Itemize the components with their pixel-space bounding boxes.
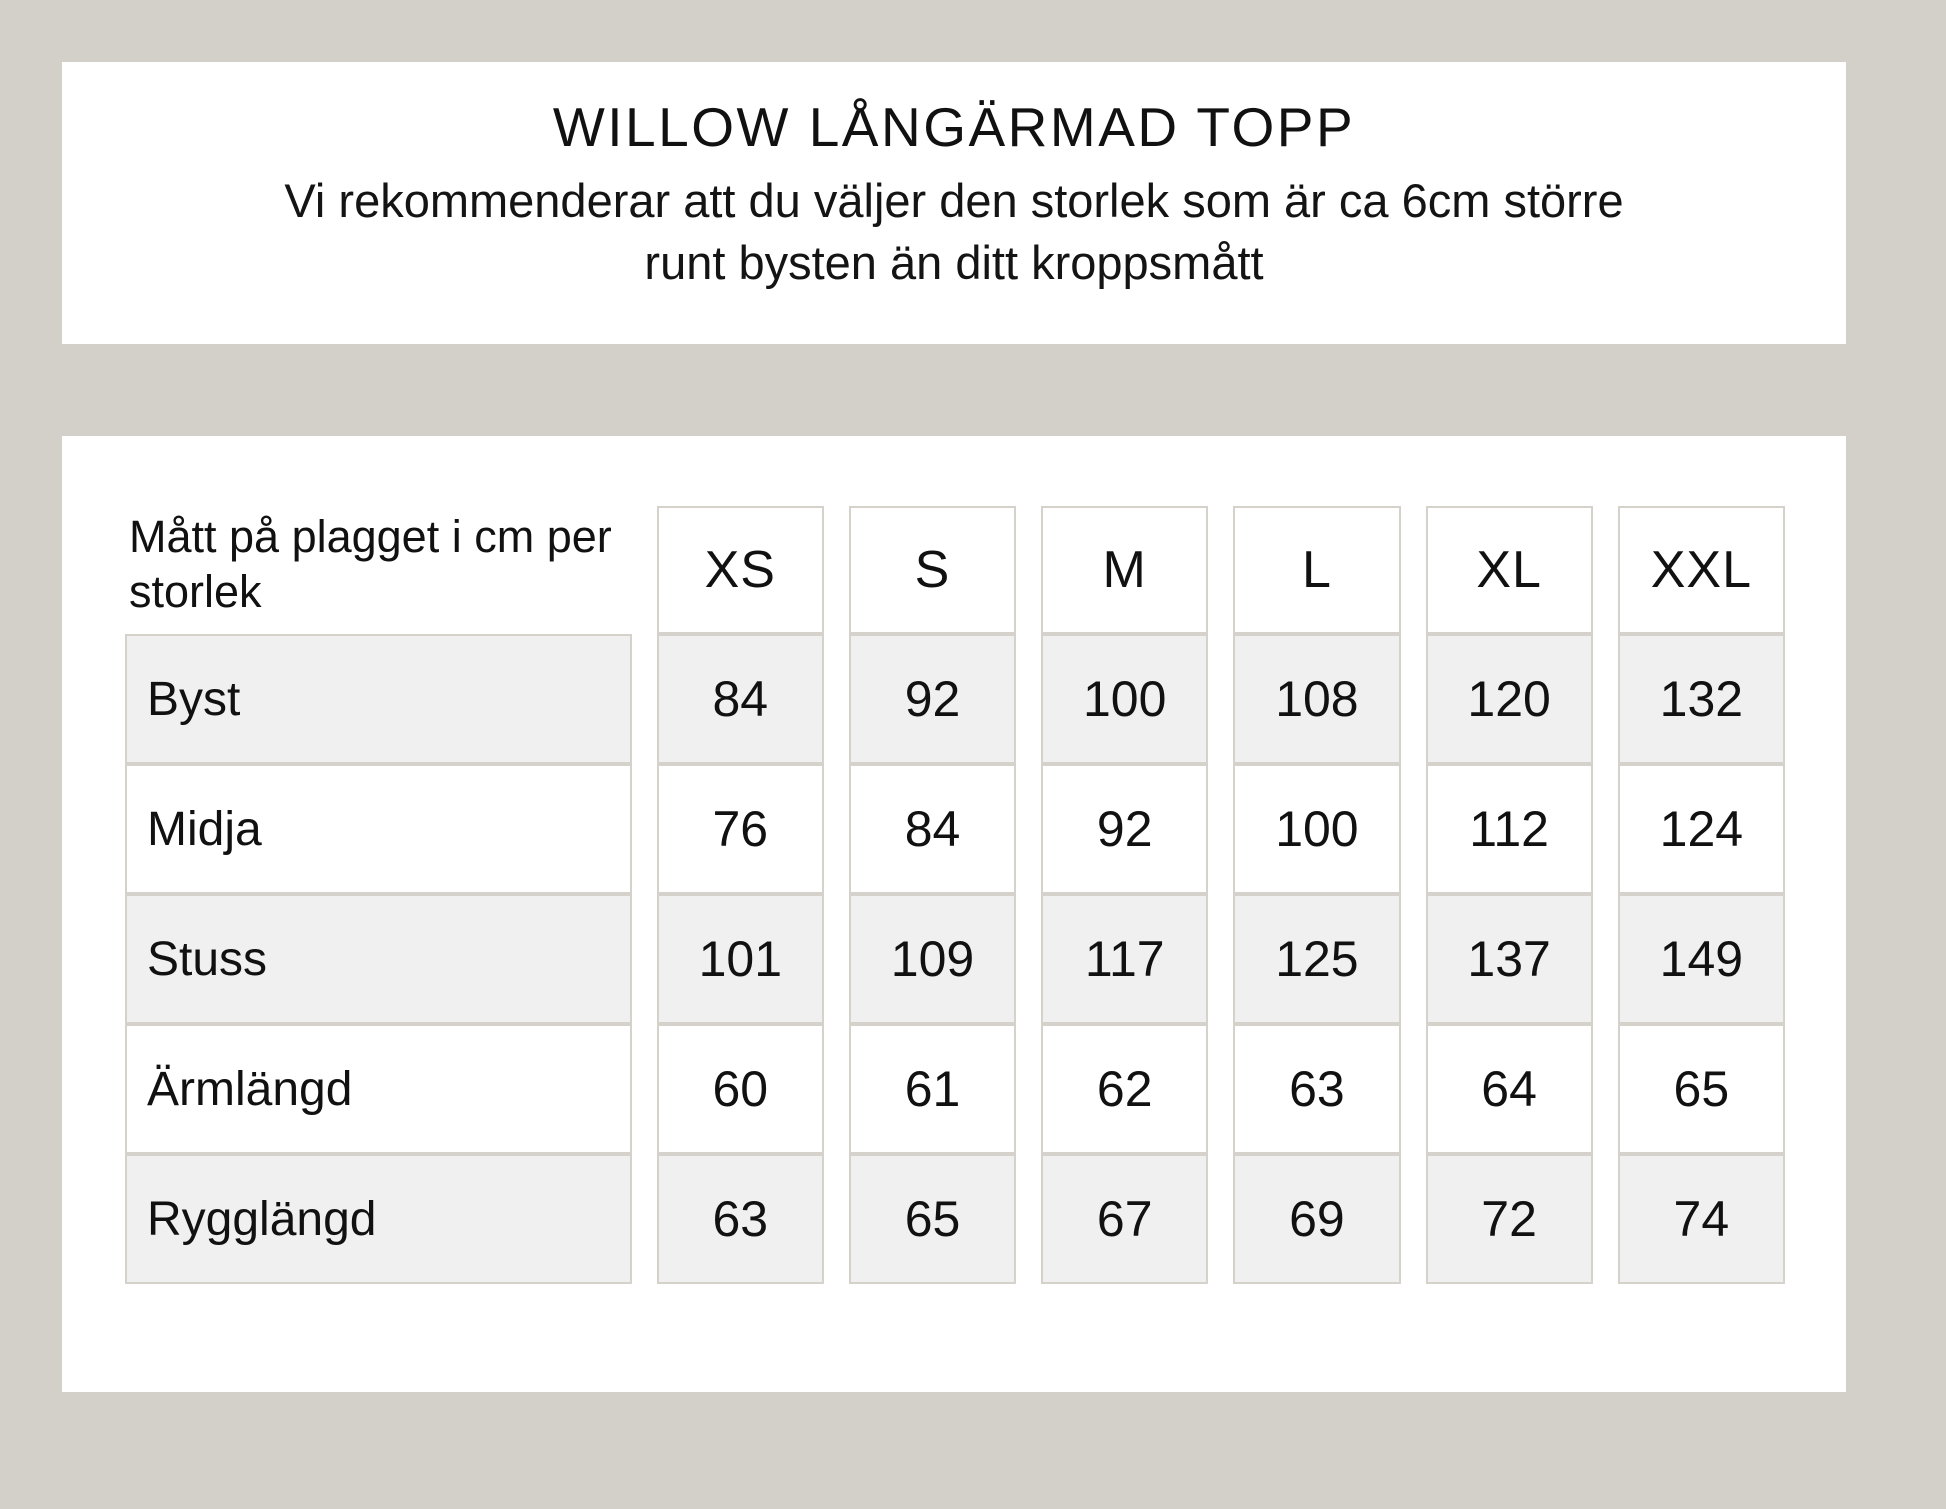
page-title: WILLOW LÅNGÄRMAD TOPP — [553, 98, 1355, 157]
table-header-row: Mått på plagget i cm per storlek XS S M … — [125, 506, 1785, 634]
cell-rygglangd-m: 67 — [1041, 1154, 1208, 1284]
table-row: Stuss 101 109 117 125 137 149 — [125, 894, 1785, 1024]
row-label-byst: Byst — [125, 634, 632, 764]
table-row: Rygglängd 63 65 67 69 72 74 — [125, 1154, 1785, 1284]
cell-byst-s: 92 — [849, 634, 1016, 764]
cell-stuss-xl: 137 — [1426, 894, 1593, 1024]
cell-stuss-xxl: 149 — [1618, 894, 1785, 1024]
cell-byst-xl: 120 — [1426, 634, 1593, 764]
cell-rygglangd-xxl: 74 — [1618, 1154, 1785, 1284]
row-label-armlangd: Ärmlängd — [125, 1024, 632, 1154]
size-header-s: S — [849, 506, 1016, 634]
cell-midja-xl: 112 — [1426, 764, 1593, 894]
cell-midja-m: 92 — [1041, 764, 1208, 894]
cell-rygglangd-l: 69 — [1233, 1154, 1400, 1284]
cell-rygglangd-xs: 63 — [657, 1154, 824, 1284]
page-subtitle: Vi rekommenderar att du väljer den storl… — [254, 170, 1654, 294]
cell-byst-m: 100 — [1041, 634, 1208, 764]
cell-stuss-s: 109 — [849, 894, 1016, 1024]
cell-stuss-xs: 101 — [657, 894, 824, 1024]
cell-byst-l: 108 — [1233, 634, 1400, 764]
cell-armlangd-s: 61 — [849, 1024, 1016, 1154]
table-row: Midja 76 84 92 100 112 124 — [125, 764, 1785, 894]
cell-armlangd-l: 63 — [1233, 1024, 1400, 1154]
header-card: WILLOW LÅNGÄRMAD TOPP Vi rekommenderar a… — [62, 62, 1846, 344]
cell-midja-l: 100 — [1233, 764, 1400, 894]
size-header-xs: XS — [657, 506, 824, 634]
cell-stuss-m: 117 — [1041, 894, 1208, 1024]
cell-byst-xs: 84 — [657, 634, 824, 764]
size-header-m: M — [1041, 506, 1208, 634]
size-table-card: Mått på plagget i cm per storlek XS S M … — [62, 436, 1846, 1392]
row-label-rygglangd: Rygglängd — [125, 1154, 632, 1284]
measurement-column-header: Mått på plagget i cm per storlek — [125, 506, 632, 634]
cell-midja-xxl: 124 — [1618, 764, 1785, 894]
cell-byst-xxl: 132 — [1618, 634, 1785, 764]
table-row: Byst 84 92 100 108 120 132 — [125, 634, 1785, 764]
cell-midja-s: 84 — [849, 764, 1016, 894]
cell-armlangd-m: 62 — [1041, 1024, 1208, 1154]
cell-armlangd-xs: 60 — [657, 1024, 824, 1154]
cell-midja-xs: 76 — [657, 764, 824, 894]
size-header-l: L — [1233, 506, 1400, 634]
row-label-midja: Midja — [125, 764, 632, 894]
size-chart-table: Mått på plagget i cm per storlek XS S M … — [100, 506, 1810, 1284]
row-label-stuss: Stuss — [125, 894, 632, 1024]
cell-stuss-l: 125 — [1233, 894, 1400, 1024]
cell-rygglangd-s: 65 — [849, 1154, 1016, 1284]
size-header-xxl: XXL — [1618, 506, 1785, 634]
cell-armlangd-xl: 64 — [1426, 1024, 1593, 1154]
cell-rygglangd-xl: 72 — [1426, 1154, 1593, 1284]
cell-armlangd-xxl: 65 — [1618, 1024, 1785, 1154]
size-header-xl: XL — [1426, 506, 1593, 634]
table-row: Ärmlängd 60 61 62 63 64 65 — [125, 1024, 1785, 1154]
